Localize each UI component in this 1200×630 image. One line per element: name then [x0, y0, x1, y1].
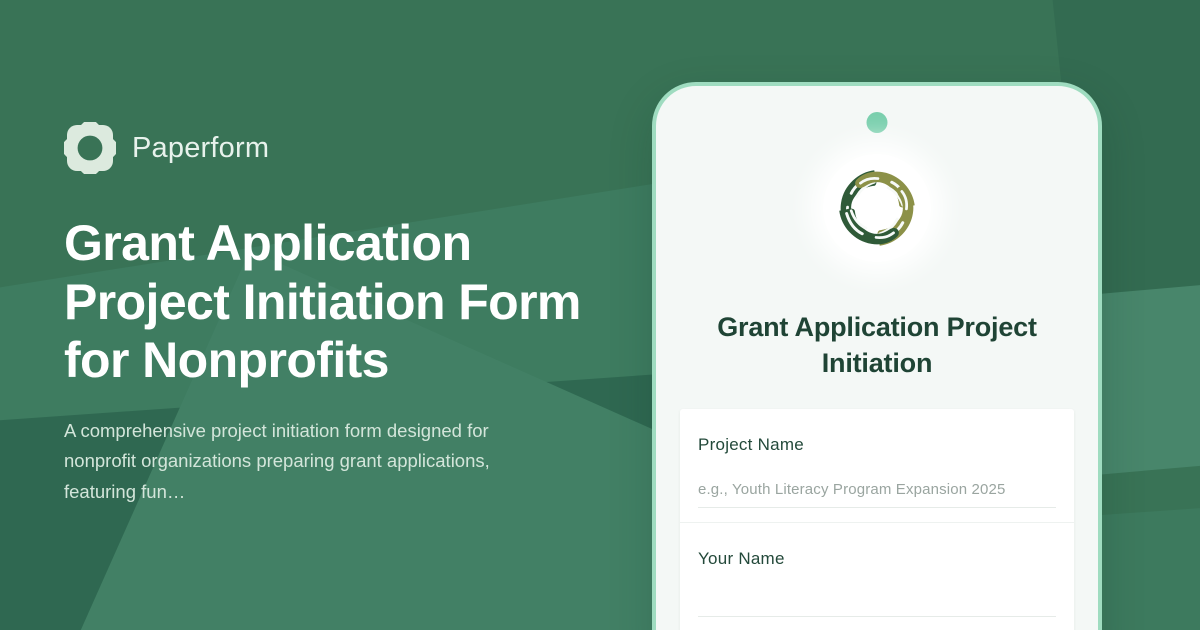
camera-dot-icon	[867, 112, 888, 133]
form-field-project-name: Project Name e.g., Youth Literacy Progra…	[680, 409, 1074, 508]
form-avatar	[823, 154, 931, 262]
page-title: Grant Application Project Initiation For…	[64, 214, 604, 390]
your-name-input[interactable]	[698, 595, 1056, 617]
page-description: A comprehensive project initiation form …	[64, 416, 564, 508]
paperform-starburst-icon	[64, 122, 116, 174]
four-hands-circle-icon	[831, 162, 923, 254]
form-card: Project Name e.g., Youth Literacy Progra…	[680, 409, 1074, 630]
field-label-project-name: Project Name	[698, 435, 1056, 455]
form-title: Grant Application Project Initiation	[680, 310, 1074, 381]
field-label-your-name: Your Name	[698, 549, 1056, 569]
hero-content: Paperform Grant Application Project Init…	[64, 0, 624, 630]
brand-wordmark: Paperform	[132, 132, 269, 165]
brand-lockup: Paperform	[64, 122, 624, 174]
form-field-your-name: Your Name	[680, 522, 1074, 617]
social-share-card: Paperform Grant Application Project Init…	[0, 0, 1200, 630]
project-name-input[interactable]: e.g., Youth Literacy Program Expansion 2…	[698, 481, 1056, 508]
phone-mockup: Grant Application Project Initiation Pro…	[652, 82, 1102, 630]
